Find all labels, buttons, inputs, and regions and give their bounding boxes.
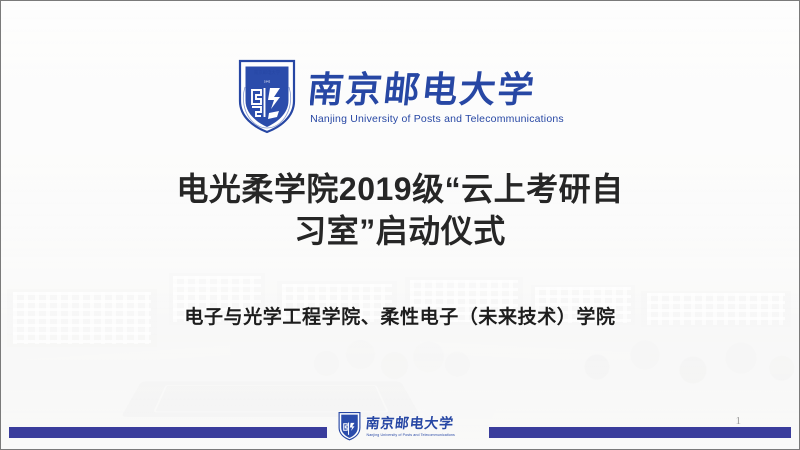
footer-university-name-cn-calligraphy: 南京邮电大学 <box>367 415 463 432</box>
footer-bar-right <box>489 427 791 438</box>
svg-text:南京邮电大学: 南京邮电大学 <box>254 69 281 76</box>
university-name-en: Nanjing University of Posts and Telecomm… <box>310 113 564 125</box>
presentation-slide: 南京邮电大学 1942 南京邮电大学 Nanjing University of… <box>0 0 800 450</box>
university-name-cn-text: 南京邮电大学 <box>310 69 538 111</box>
slide-footer: 南京邮电大学 Nanjing University of Posts and T… <box>1 409 799 449</box>
page-number: 1 <box>736 415 742 427</box>
footer-bar-left <box>9 427 327 438</box>
footer-university-name-en: Nanjing University of Posts and Telecomm… <box>367 433 455 437</box>
footer-university-logo: 南京邮电大学 Nanjing University of Posts and T… <box>338 411 463 441</box>
svg-text:1942: 1942 <box>264 80 271 84</box>
university-logo-lockup: 南京邮电大学 1942 南京邮电大学 Nanjing University of… <box>1 57 799 135</box>
slide-title-block: 电光柔学院2019级“云上考研自 习室”启动仪式 <box>61 169 739 252</box>
page-title-line-2: 习室”启动仪式 <box>294 213 506 249</box>
university-name-cn-calligraphy: 南京邮电大学 <box>310 68 558 112</box>
slide-subtitle: 电子与光学工程学院、柔性电子（未来技术）学院 <box>41 306 759 331</box>
footer-university-name-cn-text: 南京邮电大学 <box>367 415 455 432</box>
footer-university-name-block: 南京邮电大学 Nanjing University of Posts and T… <box>367 415 463 437</box>
university-name-block: 南京邮电大学 Nanjing University of Posts and T… <box>310 68 564 125</box>
page-title-line-1: 电光柔学院2019级“云上考研自 <box>176 171 623 207</box>
nupt-shield-crest-icon: 南京邮电大学 1942 <box>236 57 298 135</box>
nupt-shield-crest-icon <box>338 411 362 441</box>
page-title: 电光柔学院2019级“云上考研自 习室”启动仪式 <box>61 169 739 252</box>
